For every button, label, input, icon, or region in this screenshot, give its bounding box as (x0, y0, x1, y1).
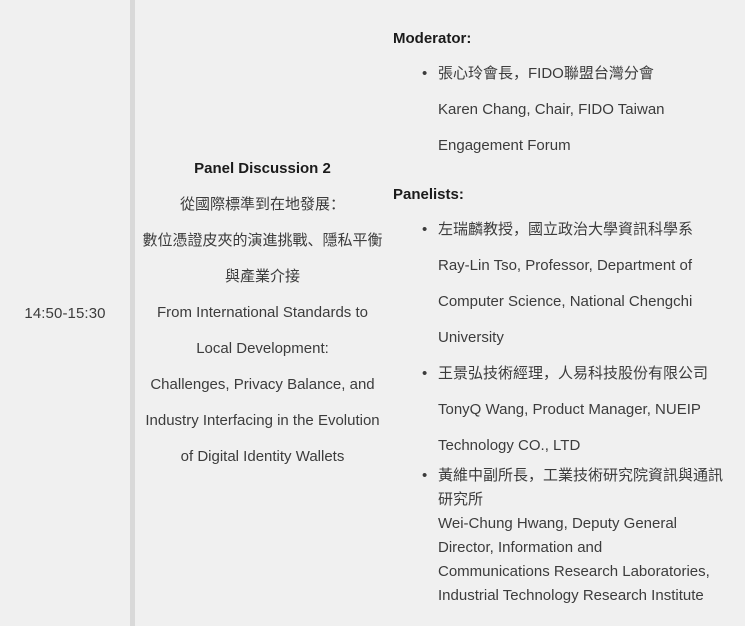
person-line: 研究所 (438, 488, 745, 512)
person-line: Industrial Technology Research Institute (438, 584, 745, 608)
bullet-icon: • (422, 212, 427, 248)
session-title-zh-line-2: 數位憑證皮夾的演進挑戰、隱私平衡 (142, 223, 382, 259)
person-line: TonyQ Wang, Product Manager, NUEIP (438, 392, 745, 428)
session-title-en-line-3: Challenges, Privacy Balance, and (150, 367, 374, 403)
session-title-cell: Panel Discussion 2 從國際標準到在地發展： 數位憑證皮夾的演進… (135, 0, 390, 626)
moderator-list: • 張心玲會長，FIDO聯盟台灣分會 Karen Chang, Chair, F… (393, 56, 745, 164)
bullet-icon: • (422, 56, 427, 92)
speakers-cell: Moderator: • 張心玲會長，FIDO聯盟台灣分會 Karen Chan… (390, 0, 745, 626)
panelists-label: Panelists: (393, 184, 745, 206)
bullet-icon: • (422, 356, 427, 392)
session-title-zh-line-3: 與產業介接 (225, 259, 300, 295)
person-line: 王景弘技術經理，人易科技股份有限公司 (438, 356, 745, 392)
person-line: Technology CO., LTD (438, 428, 745, 464)
person-line: Ray-Lin Tso, Professor, Department of (438, 248, 745, 284)
person-line: Karen Chang, Chair, FIDO Taiwan (438, 92, 745, 128)
list-item: • 左瑞麟教授，國立政治大學資訊科學系 Ray-Lin Tso, Profess… (393, 212, 745, 356)
session-title-en-line-4: Industry Interfacing in the Evolution (145, 403, 379, 439)
person-line: 黃維中副所長，工業技術研究院資訊與通訊 (438, 464, 745, 488)
person-line: 左瑞麟教授，國立政治大學資訊科學系 (438, 212, 745, 248)
session-title-zh-line-1: 從國際標準到在地發展： (180, 187, 345, 223)
person-line: University (438, 320, 745, 356)
session-title-en-line-1: From International Standards to (157, 295, 368, 331)
session-time: 14:50-15:30 (24, 305, 105, 322)
bullet-icon: • (422, 464, 427, 488)
person-line: Wei-Chung Hwang, Deputy General (438, 512, 745, 536)
person-line: 張心玲會長，FIDO聯盟台灣分會 (438, 56, 745, 92)
agenda-row: 14:50-15:30 Panel Discussion 2 從國際標準到在地發… (0, 0, 745, 626)
person-line: Communications Research Laboratories, (438, 560, 745, 584)
person-line: Computer Science, National Chengchi (438, 284, 745, 320)
session-title-en-line-5: of Digital Identity Wallets (181, 439, 345, 475)
list-item: • 張心玲會長，FIDO聯盟台灣分會 Karen Chang, Chair, F… (393, 56, 745, 164)
person-line: Engagement Forum (438, 128, 745, 164)
list-item: • 王景弘技術經理，人易科技股份有限公司 TonyQ Wang, Product… (393, 356, 745, 464)
session-heading: Panel Discussion 2 (194, 151, 331, 187)
session-title-en-line-2: Local Development: (196, 331, 329, 367)
list-item: • 黃維中副所長，工業技術研究院資訊與通訊 研究所 Wei-Chung Hwan… (393, 464, 745, 608)
moderator-label: Moderator: (393, 28, 745, 50)
panelists-list: • 左瑞麟教授，國立政治大學資訊科學系 Ray-Lin Tso, Profess… (393, 212, 745, 608)
person-line: Director, Information and (438, 536, 745, 560)
time-cell: 14:50-15:30 (0, 0, 130, 626)
